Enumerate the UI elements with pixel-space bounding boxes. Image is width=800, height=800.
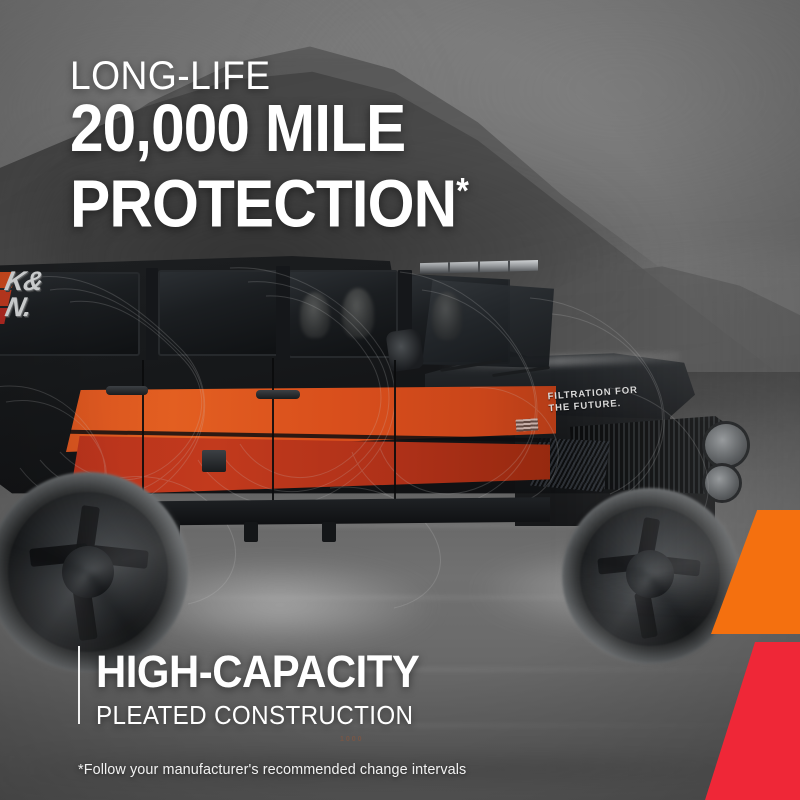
headline-line-2-text: PROTECTION bbox=[70, 166, 456, 241]
door-handle-front bbox=[256, 390, 300, 399]
side-mirror bbox=[385, 328, 424, 372]
kn-logo-text-bottom: N. bbox=[3, 294, 34, 320]
window-mid-rear bbox=[158, 270, 283, 356]
flag-decal-icon bbox=[516, 418, 539, 432]
headline-line-1: 20,000 MILE bbox=[70, 98, 469, 160]
kn-logo: K& N. bbox=[0, 270, 74, 324]
advertisement-banner: K& N. 1000 FILTRATION FOR THE FUTURE. LO… bbox=[0, 0, 800, 800]
subhead-text-group: HIGH-CAPACITY PLEATED CONSTRUCTION bbox=[96, 646, 444, 730]
wheel-front-motionblur bbox=[562, 488, 738, 664]
roof-light-bar bbox=[420, 260, 538, 274]
vehicle-badge-1000: 1000 bbox=[340, 736, 364, 743]
vertical-rule-divider bbox=[78, 646, 80, 724]
occupant-rear bbox=[300, 292, 330, 338]
headline-asterisk: * bbox=[456, 170, 469, 211]
subhead-block: HIGH-CAPACITY PLEATED CONSTRUCTION bbox=[78, 646, 444, 730]
footnote-disclaimer: *Follow your manufacturer's recommended … bbox=[78, 761, 466, 778]
rock-slider-nub-2 bbox=[244, 522, 258, 542]
rock-slider-nub-3 bbox=[322, 522, 336, 542]
door-seam-front bbox=[394, 360, 396, 512]
pillar-c bbox=[276, 266, 290, 360]
headline-block: LONG-LIFE 20,000 MILE PROTECTION* bbox=[70, 54, 513, 235]
headlight-icon bbox=[705, 424, 747, 466]
door-seam-mid bbox=[272, 358, 274, 510]
door-latch bbox=[202, 450, 226, 472]
subhead-line-1: HIGH-CAPACITY bbox=[96, 648, 419, 696]
occupant-driver bbox=[432, 292, 462, 340]
door-handle-rear bbox=[106, 386, 148, 395]
headline-line-2: PROTECTION* bbox=[70, 160, 469, 235]
occupant-mid bbox=[342, 288, 374, 338]
pillar-b bbox=[146, 268, 158, 360]
subhead-line-2: PLEATED CONSTRUCTION bbox=[96, 700, 419, 730]
foglight-icon bbox=[705, 466, 739, 500]
kn-logo-text-top: K& bbox=[3, 268, 46, 294]
